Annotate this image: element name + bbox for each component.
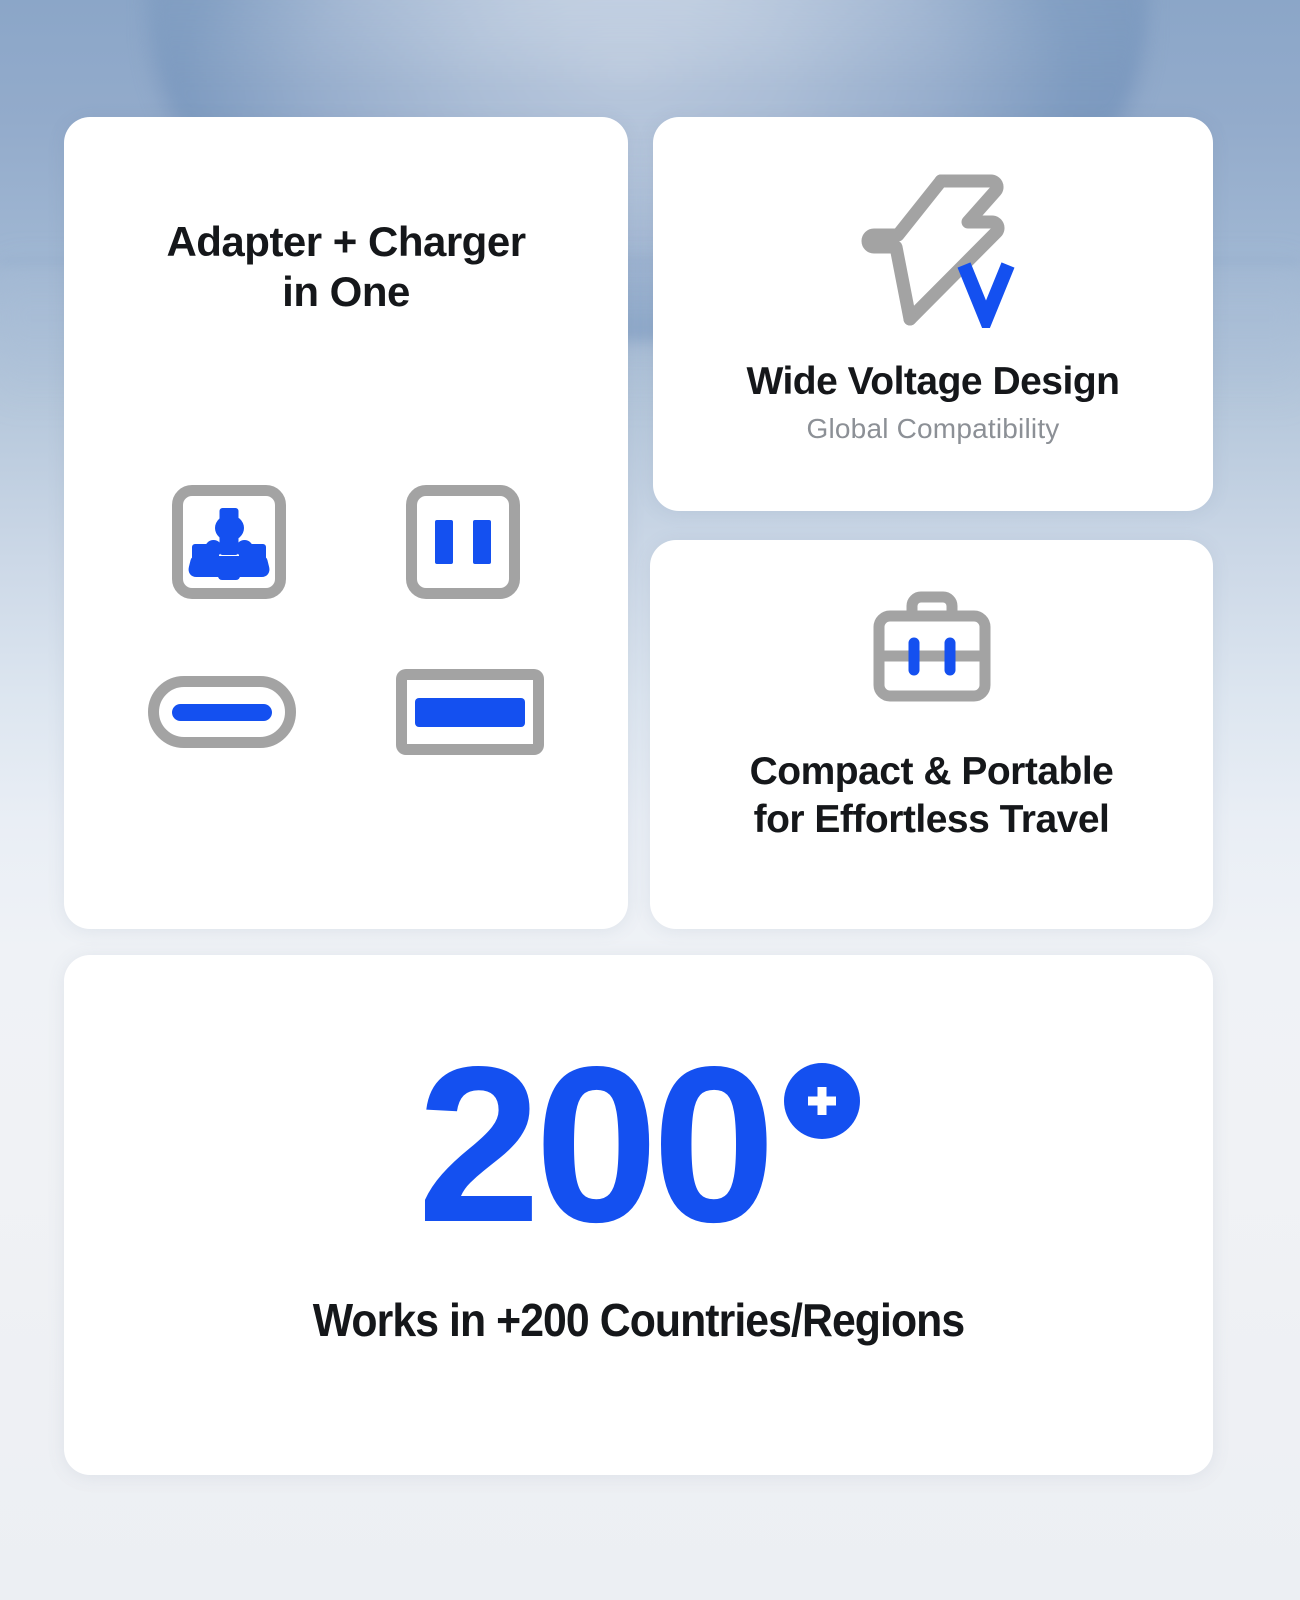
port-cell-two-slot — [406, 485, 520, 599]
usb-a-port-icon — [396, 669, 544, 755]
universal-socket-bottom-center-prong — [218, 556, 240, 580]
port-row-sockets — [64, 452, 628, 632]
infographic-stage: Adapter + Charger in One — [0, 0, 1300, 1600]
voltage-card-subtitle: Global Compatibility — [673, 413, 1193, 445]
countries-big-number: 200 — [417, 1043, 769, 1247]
two-slot-outlet-icon — [406, 485, 520, 599]
countries-number-row: 200 — [64, 1043, 1213, 1247]
port-cell-universal — [172, 485, 286, 599]
card-adapter-charger[interactable]: Adapter + Charger in One — [64, 117, 628, 929]
feature-card-grid: Adapter + Charger in One — [0, 0, 1300, 1600]
card-wide-voltage[interactable]: Wide Voltage Design Global Compatibility — [653, 117, 1213, 511]
voltage-card-title: Wide Voltage Design — [673, 359, 1193, 405]
usb-a-inner-bar — [415, 698, 525, 727]
adapter-card-title: Adapter + Charger in One — [104, 217, 588, 317]
countries-caption: Works in +200 Countries/Regions — [104, 1293, 1173, 1347]
usb-c-port-icon — [148, 676, 296, 748]
adapter-title-line-2: in One — [282, 268, 410, 315]
portable-title-line-2: for Effortless Travel — [754, 798, 1110, 841]
portable-card-title: Compact & Portable for Effortless Travel — [668, 748, 1195, 843]
outlet-slot-right — [473, 520, 491, 564]
lightning-bolt-volt-icon — [848, 173, 1018, 333]
adapter-title-line-1: Adapter + Charger — [166, 218, 525, 265]
briefcase-icon — [871, 586, 993, 709]
port-icon-grid — [64, 452, 628, 812]
usb-c-inner-bar — [172, 704, 272, 721]
port-cell-usb-c — [148, 676, 296, 748]
plus-badge-icon — [784, 1063, 860, 1139]
portable-title-line-1: Compact & Portable — [750, 750, 1114, 793]
card-countries-coverage[interactable]: 200 Works in +200 Countries/Regions — [64, 955, 1213, 1475]
universal-socket-icon — [172, 485, 286, 599]
port-cell-usb-a — [396, 669, 544, 755]
port-row-usb — [64, 632, 628, 792]
card-compact-portable[interactable]: Compact & Portable for Effortless Travel — [650, 540, 1213, 929]
outlet-slot-left — [435, 520, 453, 564]
